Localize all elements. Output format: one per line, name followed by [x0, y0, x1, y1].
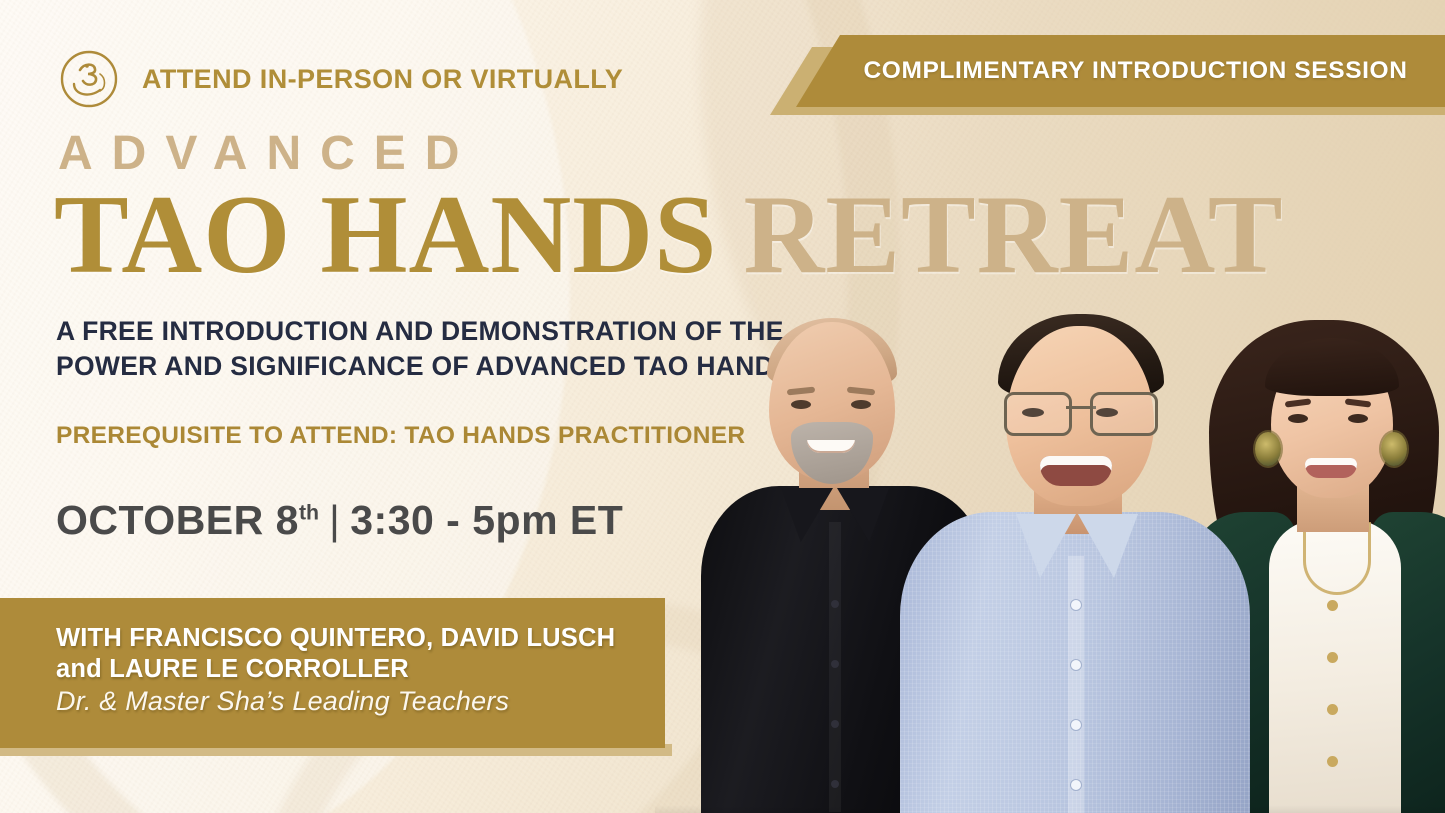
presenter-right-smile: [1305, 458, 1357, 478]
event-separator: |: [319, 497, 350, 543]
presenter-center-placket: [1068, 556, 1084, 813]
presenter-right-eye: [1288, 414, 1308, 423]
presenter-names-line1: WITH FRANCISCO QUINTERO, DAVID LUSCH: [56, 624, 615, 652]
presenter-right-button: [1327, 756, 1338, 767]
headline-title: TAO HANDS RETREAT: [54, 178, 1284, 292]
presenter-left-eye: [791, 400, 811, 409]
three-presenters-photo: [655, 300, 1445, 813]
presenter-right-button: [1327, 704, 1338, 715]
presenter-center-figure: [900, 300, 1250, 813]
presenter-center-button: [1071, 660, 1081, 670]
presenter-right-eye: [1348, 414, 1368, 423]
presenter-right-necklace: [1303, 522, 1371, 595]
presenter-left-smile: [807, 440, 855, 453]
tao-calligraphy-circle-logo-icon: [58, 48, 120, 110]
event-date: OCTOBER 8: [56, 497, 299, 543]
headline-title-light: RETREAT: [743, 178, 1283, 292]
ribbon-band: COMPLIMENTARY INTRODUCTION SESSION: [796, 35, 1445, 107]
presenter-left-button: [831, 780, 839, 788]
prerequisite-text: PREREQUISITE TO ATTEND: TAO HANDS PRACTI…: [56, 422, 745, 450]
presenter-names-line2: and LAURE LE CORROLLER: [56, 655, 409, 683]
glasses-lens-left: [1004, 392, 1072, 436]
presenter-names: WITH FRANCISCO QUINTERO, DAVID LUSCH and…: [56, 623, 646, 685]
presenter-right-earring: [1255, 432, 1281, 466]
presenter-tagline: Dr. & Master Sha’s Leading Teachers: [56, 686, 509, 717]
presenter-left-button: [831, 720, 839, 728]
eyebrow-text: ATTEND IN-PERSON OR VIRTUALLY: [142, 64, 623, 95]
presenter-center-button: [1071, 600, 1081, 610]
presenter-center-button: [1071, 780, 1081, 790]
event-datetime: OCTOBER 8th|3:30 - 5pm ET: [56, 497, 623, 544]
presenter-center-button: [1071, 720, 1081, 730]
glasses-lens-right: [1090, 392, 1158, 436]
session-ribbon: COMPLIMENTARY INTRODUCTION SESSION: [770, 35, 1445, 120]
headline-kicker: ADVANCED: [58, 130, 478, 178]
event-time: 3:30 - 5pm ET: [350, 497, 623, 543]
presenter-band: WITH FRANCISCO QUINTERO, DAVID LUSCH and…: [0, 598, 665, 748]
presenter-center-glasses: [1004, 392, 1158, 432]
presenter-right-earring: [1381, 432, 1407, 466]
eyebrow-row: ATTEND IN-PERSON OR VIRTUALLY: [58, 48, 623, 110]
presenter-left-eye: [851, 400, 871, 409]
presenter-right-button: [1327, 652, 1338, 663]
presenter-center-smile: [1040, 456, 1112, 486]
presenter-right-button: [1327, 600, 1338, 611]
presenter-left-button: [831, 660, 839, 668]
presenter-left-button: [831, 600, 839, 608]
event-date-suffix: th: [299, 500, 319, 524]
promotional-banner: COMPLIMENTARY INTRODUCTION SESSION ATTEN…: [0, 0, 1445, 813]
headline-title-strong: TAO HANDS: [54, 178, 717, 292]
ribbon-label: COMPLIMENTARY INTRODUCTION SESSION: [834, 57, 1408, 85]
